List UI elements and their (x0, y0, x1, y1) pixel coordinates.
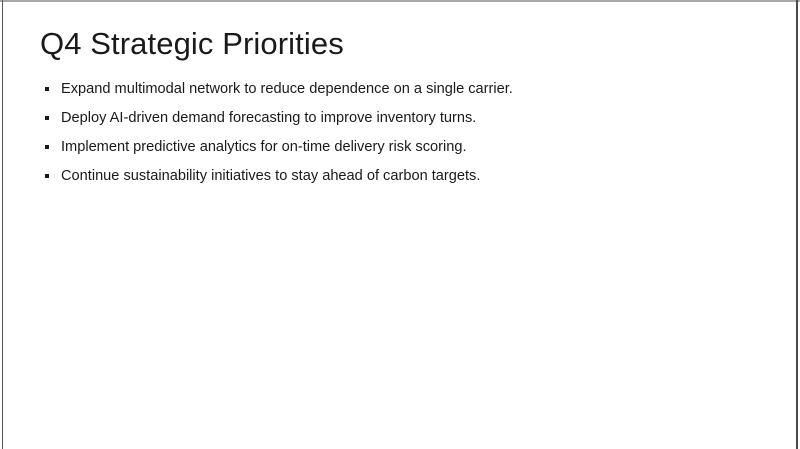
square-bullet-icon (45, 116, 49, 120)
bullet-list: Expand multimodal network to reduce depe… (44, 79, 744, 195)
square-bullet-icon (45, 174, 49, 178)
list-item-label: Expand multimodal network to reduce depe… (61, 79, 513, 99)
presentation-slide: Q4 Strategic Priorities Expand multimoda… (0, 0, 800, 449)
list-item-label: Continue sustainability initiatives to s… (61, 166, 480, 186)
slide-content-area: Q4 Strategic Priorities Expand multimoda… (0, 0, 800, 449)
list-item-label: Deploy AI-driven demand forecasting to i… (61, 108, 476, 128)
list-item: Continue sustainability initiatives to s… (44, 166, 744, 195)
square-bullet-icon (45, 145, 49, 149)
square-bullet-icon (45, 87, 49, 91)
slide-title: Q4 Strategic Priorities (40, 26, 344, 63)
list-item-label: Implement predictive analytics for on-ti… (61, 137, 467, 157)
list-item: Implement predictive analytics for on-ti… (44, 137, 744, 166)
list-item: Expand multimodal network to reduce depe… (44, 79, 744, 108)
list-item: Deploy AI-driven demand forecasting to i… (44, 108, 744, 137)
